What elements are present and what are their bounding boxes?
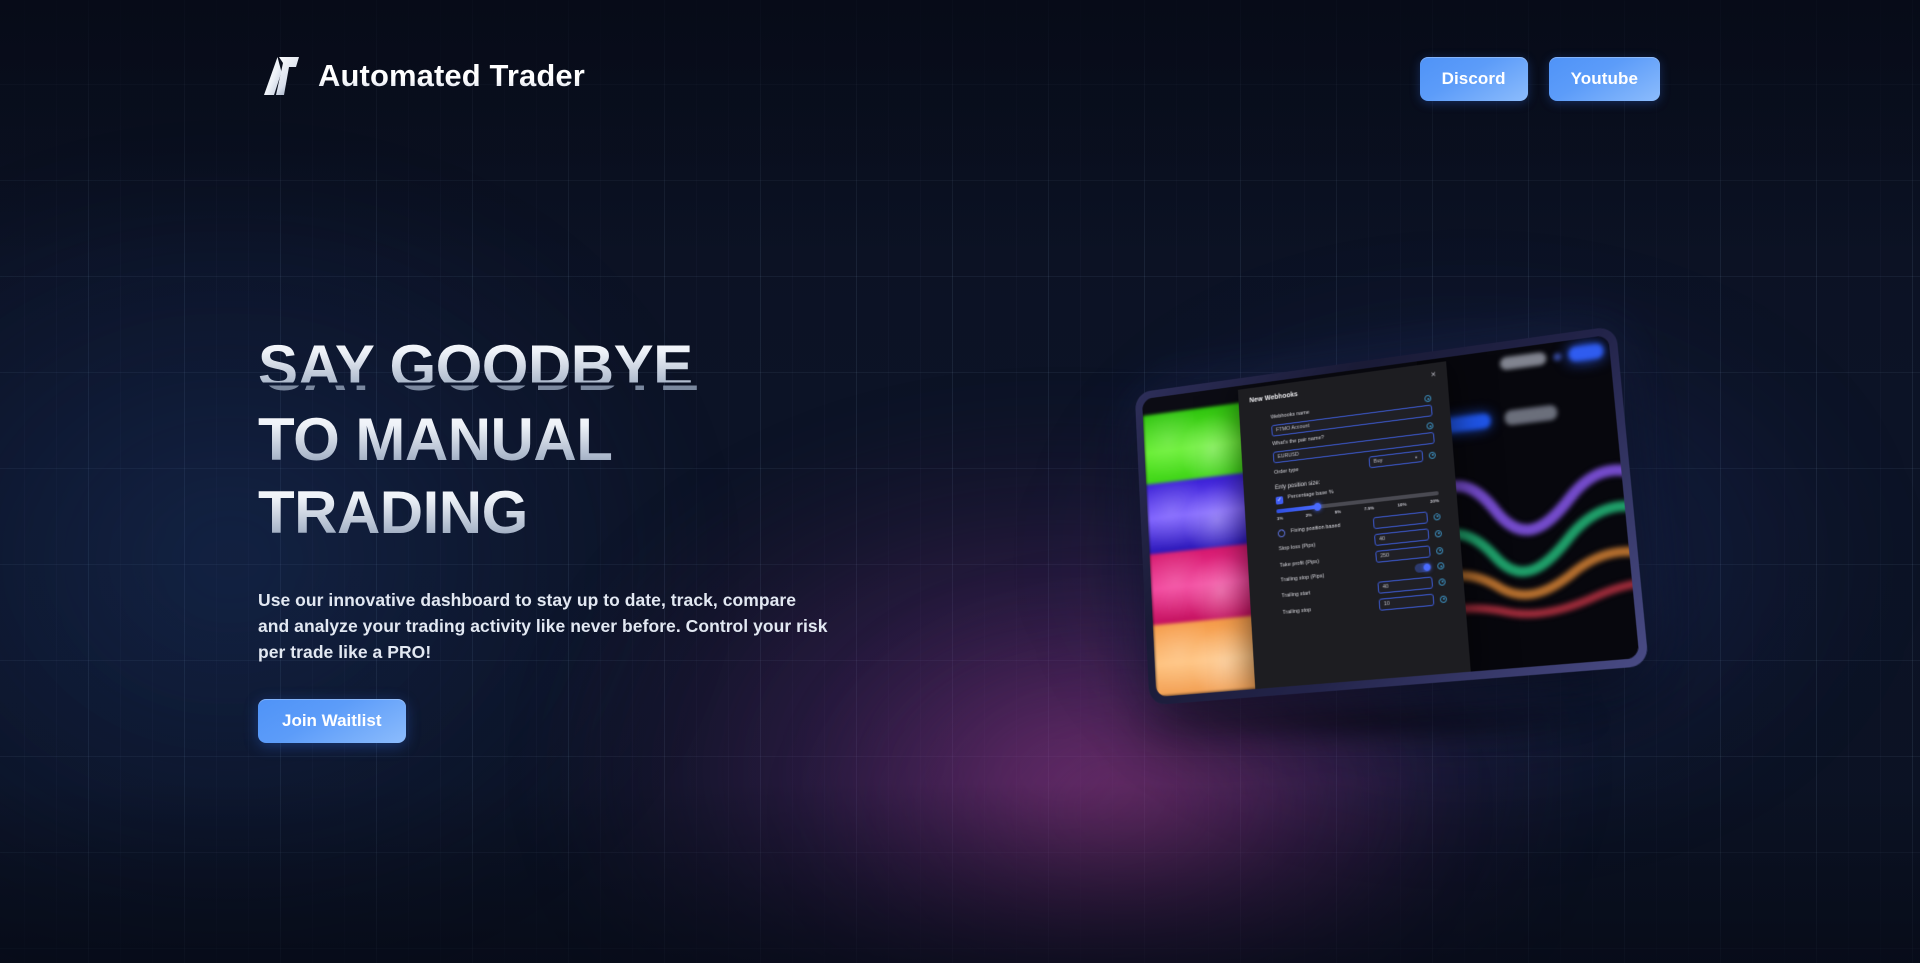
- order-type-select[interactable]: Buy ▼: [1369, 450, 1424, 468]
- trailing-start-input[interactable]: 40: [1377, 576, 1433, 593]
- take-profit-label: Take profit (Pips): [1280, 553, 1370, 568]
- slider-knob[interactable]: [1314, 502, 1322, 511]
- at-monogram-icon: [258, 54, 304, 98]
- info-icon[interactable]: [1436, 546, 1443, 554]
- fixing-position-input[interactable]: [1373, 511, 1428, 529]
- trailing-stop-input[interactable]: 10: [1379, 594, 1435, 611]
- toolbar-ghost-button[interactable]: [1500, 352, 1547, 371]
- discord-button[interactable]: Discord: [1420, 57, 1528, 101]
- info-icon[interactable]: [1437, 562, 1444, 570]
- headline-line-3: TRADING TRADING: [258, 476, 1078, 549]
- chart-toolbar: [1499, 343, 1604, 372]
- info-icon[interactable]: [1429, 451, 1436, 459]
- close-icon[interactable]: ✕: [1430, 371, 1436, 379]
- slider-tick: 7.5%: [1364, 505, 1374, 511]
- percentage-base-label: Percentage base %: [1288, 489, 1334, 500]
- info-icon[interactable]: [1433, 512, 1440, 520]
- slider-tick: 1%: [1277, 516, 1283, 522]
- trailing-stop-label: Trailing stop: [1282, 601, 1373, 616]
- youtube-button[interactable]: Youtube: [1549, 57, 1660, 101]
- modal-body: Webhooks name FTMO Account What's the pa…: [1250, 393, 1453, 622]
- equity-chart: [1417, 435, 1640, 651]
- brand-name: Automated Trader: [318, 58, 585, 94]
- webhooks-name-label: Webhooks name: [1271, 410, 1310, 421]
- device-mockup: New Webhooks ✕ Webhooks name FTMO Accoun…: [1110, 330, 1650, 730]
- brand-logo[interactable]: Automated Trader: [258, 54, 585, 98]
- info-icon[interactable]: [1424, 395, 1431, 403]
- headline-line-3-text: TRADING: [258, 476, 528, 549]
- pair-name-label: What's the pair name?: [1272, 435, 1324, 447]
- info-icon[interactable]: [1438, 578, 1445, 586]
- trailing-stop-toggle[interactable]: [1414, 562, 1431, 573]
- chart-panel: [1417, 335, 1640, 691]
- trailing-start-label: Trailing start: [1281, 584, 1372, 599]
- stop-loss-input[interactable]: 40: [1374, 528, 1429, 546]
- slider-tick: 2%: [1306, 512, 1313, 518]
- header-actions: Discord Youtube: [1420, 57, 1660, 101]
- info-icon[interactable]: [1435, 529, 1442, 537]
- hero-section: SAY GOODBYE SAY GOODBYE TO MANUAL TO MAN…: [258, 330, 1078, 743]
- chevron-down-icon: ▼: [1414, 454, 1418, 459]
- radio-unchecked-icon[interactable]: [1278, 529, 1286, 538]
- toolbar-primary-button[interactable]: [1568, 343, 1604, 363]
- join-waitlist-button[interactable]: Join Waitlist: [258, 699, 406, 743]
- slider-tick: 5%: [1335, 509, 1342, 515]
- info-icon[interactable]: [1440, 595, 1448, 603]
- chart-tabs: [1439, 404, 1558, 434]
- info-icon[interactable]: [1426, 422, 1433, 430]
- landing-page: Automated Trader Discord Youtube SAY GOO…: [0, 0, 1920, 963]
- take-profit-input[interactable]: 250: [1375, 545, 1430, 563]
- slider-tick: 10%: [1397, 502, 1406, 508]
- fixing-position-label: Fixing position based: [1291, 519, 1368, 533]
- tablet-bezel: New Webhooks ✕ Webhooks name FTMO Accoun…: [1142, 335, 1639, 697]
- tablet-screen: New Webhooks ✕ Webhooks name FTMO Accoun…: [1142, 335, 1639, 697]
- hero-subhead: Use our innovative dashboard to stay up …: [258, 587, 828, 665]
- site-header: Automated Trader Discord Youtube: [0, 0, 1920, 132]
- new-webhooks-modal: New Webhooks ✕ Webhooks name FTMO Accoun…: [1238, 361, 1472, 697]
- chart-tab-inactive[interactable]: [1504, 404, 1558, 426]
- tablet-frame: New Webhooks ✕ Webhooks name FTMO Accoun…: [1135, 326, 1649, 706]
- toolbar-dot-icon: [1553, 352, 1562, 361]
- chart-tab-active[interactable]: [1439, 413, 1492, 434]
- headline-line-2: TO MANUAL TO MANUAL: [258, 403, 1078, 476]
- slider-tick: 20%: [1430, 498, 1439, 504]
- order-type-value: Buy: [1374, 454, 1415, 465]
- headline-line-1: SAY GOODBYE SAY GOODBYE: [258, 330, 1078, 403]
- checkbox-checked-icon[interactable]: ✓: [1276, 496, 1284, 505]
- tablet: New Webhooks ✕ Webhooks name FTMO Accoun…: [1135, 326, 1649, 706]
- page-title: SAY GOODBYE SAY GOODBYE TO MANUAL TO MAN…: [258, 330, 1078, 549]
- headline-line-2-text: TO MANUAL: [258, 403, 612, 476]
- stop-loss-label: Stop loss (Pips): [1279, 536, 1369, 551]
